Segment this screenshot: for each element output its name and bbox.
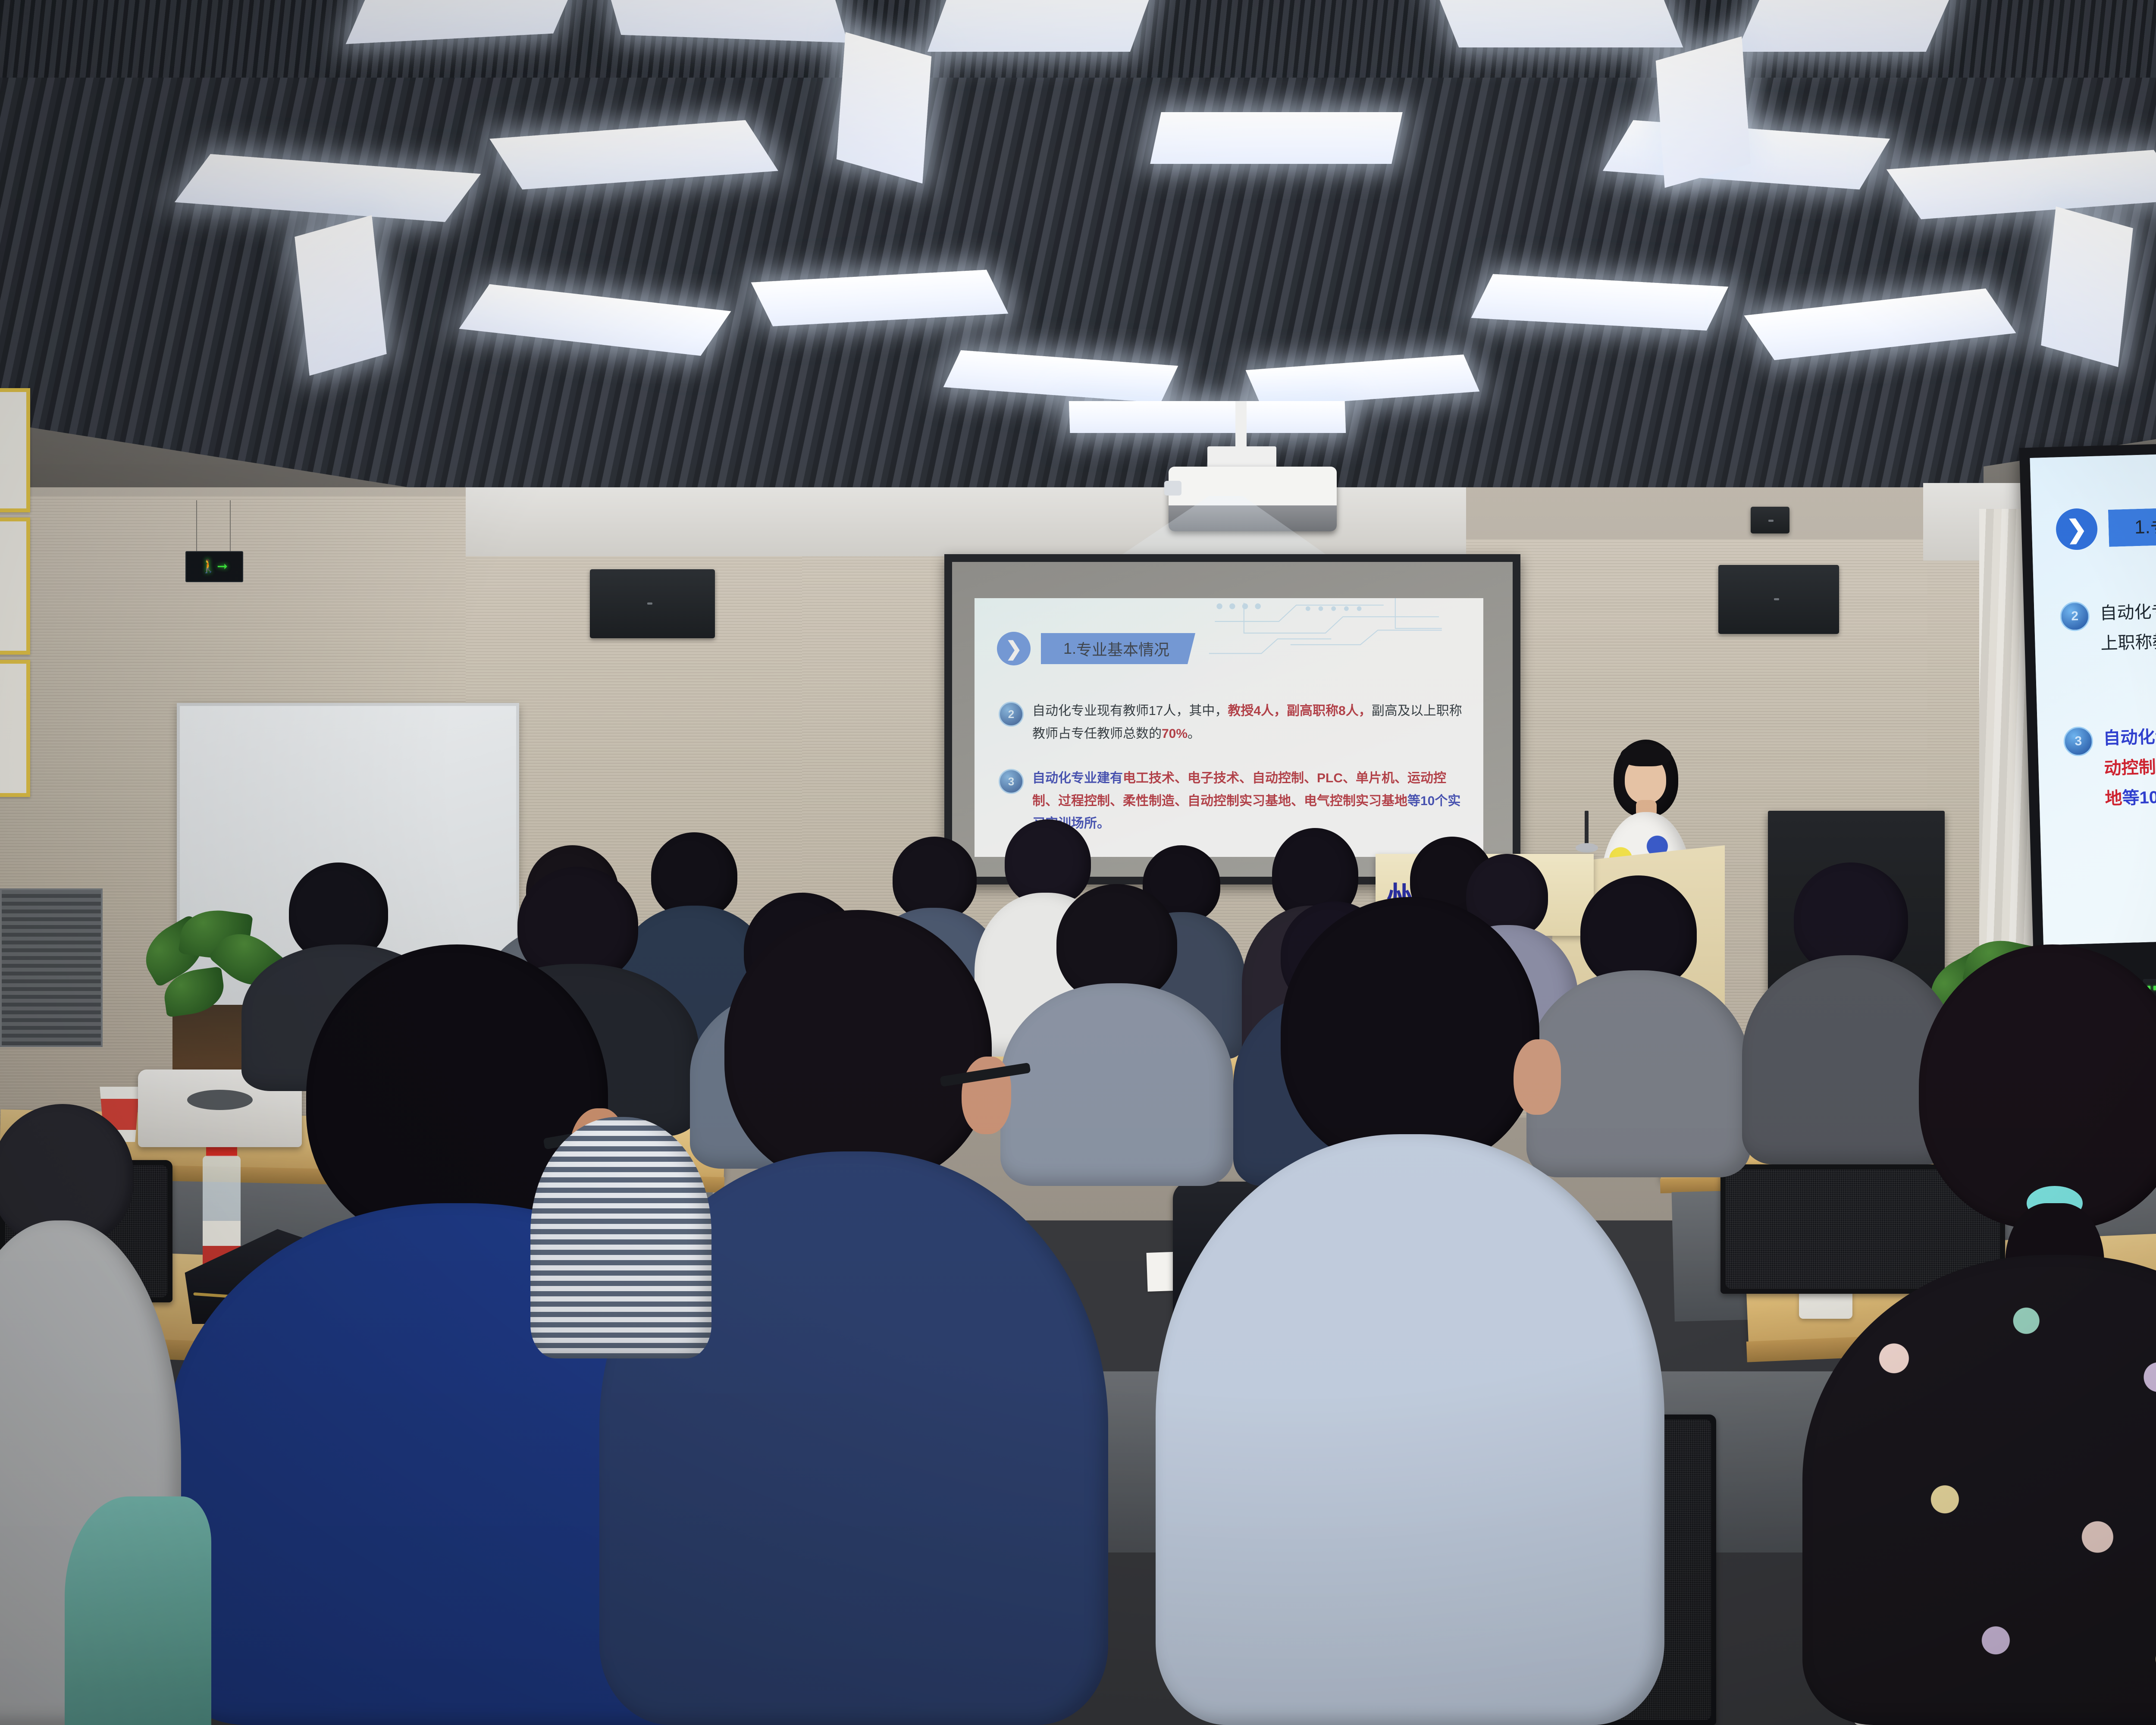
interactive-display[interactable]: ❯ 1. 专业基本情况 2 自动化专业现有教师17人，其中，教授4人，副高职称8… (2019, 432, 2156, 987)
torso (530, 1117, 711, 1358)
ceiling-light-3 (928, 0, 1155, 52)
torso (1802, 1255, 2156, 1725)
bullet1-seg2: 教授4人，副高职称8人， (1228, 704, 1371, 718)
slide-circuit-decor-icon (1168, 598, 1483, 715)
projected-slide: ❯ 1. 专业基本情况 2 自动化专业现有教师17人，其中，教授4人，副高职称8… (975, 598, 1483, 857)
ceiling-light-14 (2041, 207, 2133, 367)
head (724, 910, 992, 1186)
tv-bullet1-seg1: 自动化专业现有教师17人，其中， (2100, 597, 2156, 623)
projector-arm (1235, 401, 1247, 453)
slide-header-bar: 1. 专业基本情况 (1041, 633, 1195, 664)
torso (1156, 1134, 1664, 1725)
audience-person-left-plaid (530, 1117, 711, 1358)
ceiling (0, 0, 2156, 530)
tv-bullet2-seg1: 自动化专业建有 (2103, 726, 2156, 748)
slide-header-title: 专业基本情况 (1076, 637, 1169, 660)
chevron-right-icon: ❯ (997, 632, 1031, 665)
tv-slide: ❯ 1. 专业基本情况 2 自动化专业现有教师17人，其中，教授4人，副高职称8… (2030, 442, 2156, 945)
slide-header: ❯ 1. 专业基本情况 (997, 632, 1195, 665)
projector-lens (1164, 481, 1181, 496)
ceiling-light-7 (489, 120, 778, 190)
bullet1-seg1: 自动化专业现有教师17人，其中， (1032, 704, 1228, 718)
wall-speaker-right (1718, 565, 1839, 634)
exit-sign-wire-left (196, 500, 197, 551)
hvac-grille (0, 888, 103, 1047)
ceiling-light-18 (1744, 289, 2016, 360)
tv-chevron-right-icon: ❯ (2056, 508, 2098, 551)
slide-bullet-1: 2 自动化专业现有教师17人，其中，教授4人，副高职称8人，副高及以上职称教师占… (999, 700, 1464, 745)
tv-slide-bullet-marker-1: 2 (2060, 601, 2090, 631)
presenter-fringe (1620, 744, 1671, 766)
bullet1-seg4: 70% (1162, 727, 1188, 741)
audience-person-front-patterned (1802, 944, 2156, 1725)
ceiling-light-13 (1656, 36, 1751, 188)
tv-slide-header-number: 1. (2134, 516, 2150, 538)
tv-slide-bullet-text-2: 自动化专业建有电工技术、电子技术、自动控制、PLC、单片机、运动控制、过程控制、… (2103, 709, 2156, 814)
bullet2-seg1: 自动化专业建有 (1032, 771, 1123, 785)
ceiling-light-10 (1887, 150, 2156, 219)
ceiling-projector (1169, 467, 1337, 531)
bullet1-seg5: 。 (1188, 727, 1200, 741)
head (1919, 944, 2156, 1229)
head (1281, 897, 1539, 1169)
tv-slide-header: ❯ 1. 专业基本情况 (2056, 502, 2156, 551)
slide-header-number: 1. (1063, 640, 1076, 658)
tv-bullet2-seg3: 等10个实习实训场所。 (2122, 784, 2156, 808)
tv-slide-bullet-text-1: 自动化专业现有教师17人，其中，教授4人，副高职称8人，副高及以上职称教师占专任… (2100, 583, 2156, 659)
exit-running-arrow-icon: 🚶➞ (201, 560, 229, 573)
slide-bullet-marker-2: 3 (999, 769, 1024, 794)
tv-slide-bullet-marker-2: 3 (2063, 726, 2093, 756)
ceiling-light-16 (751, 270, 1009, 326)
ceiling-light-5 (1736, 0, 1955, 52)
ceiling-light-8 (1150, 112, 1403, 164)
tv-slide-header-bar: 1. 专业基本情况 (2108, 505, 2156, 547)
exit-sign-wire-right (230, 500, 231, 551)
slide-bullet-text-1: 自动化专业现有教师17人，其中，教授4人，副高职称8人，副高及以上职称教师占专任… (1032, 700, 1464, 745)
interactive-display-screen[interactable]: ❯ 1. 专业基本情况 2 自动化专业现有教师17人，其中，教授4人，副高职称8… (2030, 442, 2156, 945)
tv-slide-bullet-1: 2 自动化专业现有教师17人，其中，教授4人，副高职称8人，副高及以上职称教师占… (2060, 583, 2156, 660)
ceiling-light-11 (295, 215, 387, 376)
audience-person-front-white (1156, 897, 1664, 1725)
framed-picture-1 (0, 388, 30, 512)
tv-slide-bullet-2: 3 自动化专业建有电工技术、电子技术、自动控制、PLC、单片机、运动控制、过程控… (2063, 709, 2156, 815)
ceiling-light-6 (175, 154, 481, 222)
ceiling-light-12 (837, 32, 931, 183)
wall-speaker-left (590, 569, 715, 638)
microphone-head (1576, 843, 1598, 853)
audience-person-corner-teal (65, 1496, 211, 1725)
ceiling-light-17 (1471, 274, 1729, 330)
framed-picture-3 (0, 660, 30, 797)
projector-mount-plate (1207, 446, 1276, 469)
ceiling-light-15 (459, 284, 731, 356)
ceiling-light-4 (1430, 0, 1683, 47)
ear (1514, 1039, 1561, 1115)
wall-speaker-small (1751, 507, 1789, 533)
slide-bullet-marker-1: 2 (999, 702, 1024, 727)
ceiling-light-20 (1246, 354, 1480, 407)
ceiling-light-21 (1069, 401, 1346, 433)
tv-slide-header-title: 专业基本情况 (2150, 510, 2156, 541)
classroom-photo-scene: 🚶➞ (0, 0, 2156, 1725)
framed-picture-2 (0, 517, 30, 655)
exit-sign: 🚶➞ (185, 551, 243, 582)
ceiling-light-19 (943, 350, 1178, 403)
